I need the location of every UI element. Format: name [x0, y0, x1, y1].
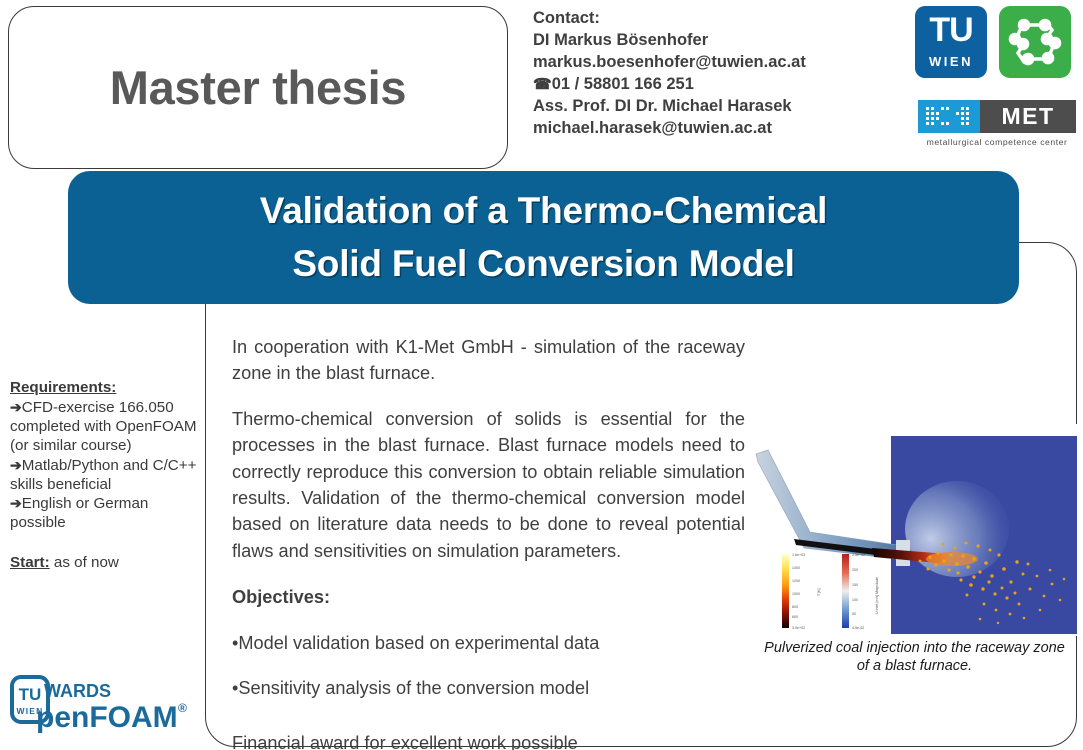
svg-text:U.Inlet [m/s] Magnitude: U.Inlet [m/s] Magnitude: [875, 577, 879, 614]
objectives-heading: Objectives:: [232, 584, 745, 610]
k1met-logo-met: MET: [980, 100, 1076, 133]
tu-wien-logo: TU WIEN: [915, 6, 987, 78]
banner-line-1: Validation of a Thermo-Chemical: [260, 185, 827, 238]
svg-text:50: 50: [852, 612, 856, 616]
k1met-logo-k1: [918, 100, 980, 133]
requirement-item: ➔English or German possible: [10, 494, 198, 532]
objective-item: •Sensitivity analysis of the conversion …: [232, 675, 745, 701]
requirement-item: ➔CFD-exercise 166.050 completed with Ope…: [10, 398, 198, 455]
requirement-text: CFD-exercise 166.050 completed with Open…: [10, 399, 197, 454]
banner-line-2: Solid Fuel Conversion Model: [292, 238, 794, 291]
requirement-text: English or German possible: [10, 495, 148, 531]
figure-caption-line-2: of a blast furnace.: [752, 658, 1077, 676]
contact-email[interactable]: markus.boesenhofer@tuwien.ac.at: [533, 52, 913, 74]
contact-supervisor-email[interactable]: michael.harasek@tuwien.ac.at: [533, 118, 913, 140]
tuwards-openfoam-logo: TU WIEN WARDS penFOAM ®: [8, 672, 198, 734]
green-molecule-logo: [999, 6, 1071, 78]
figure-caption-line-1: Pulverized coal injection into the racew…: [752, 640, 1077, 658]
requirements-heading: Requirements:: [10, 378, 198, 397]
requirement-item: ➔Matlab/Python and C/C++ skills benefici…: [10, 456, 198, 494]
intro-paragraph: In cooperation with K1-Met GmbH - simula…: [232, 334, 745, 387]
objective-item: •Model validation based on experimental …: [232, 630, 745, 656]
svg-text:1.6e+03: 1.6e+03: [792, 553, 805, 557]
svg-text:200: 200: [852, 568, 858, 572]
arrow-icon: ➔: [10, 399, 22, 415]
start-block: Start: as of now: [10, 553, 198, 572]
description-paragraph: Thermo-chemical conversion of solids is …: [232, 406, 745, 564]
requirements-sidebar: Requirements: ➔CFD-exercise 166.050 comp…: [10, 378, 198, 572]
contact-heading: Contact:: [533, 8, 913, 30]
requirement-text: Matlab/Python and C/C++ skills beneficia…: [10, 457, 197, 493]
svg-text:1400: 1400: [792, 566, 800, 570]
svg-text:100: 100: [852, 598, 858, 602]
main-body-text: In cooperation with K1-Met GmbH - simula…: [232, 334, 745, 750]
svg-text:T [K]: T [K]: [817, 588, 821, 596]
svg-text:4.5e-02: 4.5e-02: [852, 626, 864, 630]
contact-phone-line: ☎01 / 58801 166 251: [533, 74, 913, 96]
k1-pixel-icon: [925, 106, 973, 128]
raceway-simulation-figure: 1.6e+03 1400 1200 1000 800 600 3.0e+02 T…: [752, 424, 1077, 636]
figure-caption: Pulverized coal injection into the racew…: [752, 640, 1077, 675]
poster-root: Master thesis Contact: DI Markus Bösenho…: [0, 0, 1083, 750]
svg-text:2.5e+02: 2.5e+02: [852, 553, 865, 557]
svg-text:penFOAM: penFOAM: [36, 701, 178, 734]
svg-text:150: 150: [852, 583, 858, 587]
start-label: Start:: [10, 554, 50, 571]
logo-row: TU WIEN: [915, 6, 1071, 78]
svg-text:800: 800: [792, 605, 798, 609]
k1met-logo-subtitle: metallurgical competence center: [918, 137, 1076, 147]
svg-text:3.0e+02: 3.0e+02: [792, 626, 805, 630]
contact-name: DI Markus Bösenhofer: [533, 30, 913, 52]
contact-supervisor: Ass. Prof. DI Dr. Michael Harasek: [533, 96, 913, 118]
arrow-icon: ➔: [10, 495, 22, 511]
svg-text:1000: 1000: [792, 592, 800, 596]
contact-phone: 01 / 58801 166 251: [552, 75, 694, 93]
figure-wrap: 1.6e+03 1400 1200 1000 800 600 3.0e+02 T…: [752, 424, 1077, 675]
contact-block: Contact: DI Markus Bösenhofer markus.boe…: [533, 8, 913, 140]
phone-icon: ☎: [533, 76, 551, 93]
arrow-icon: ➔: [10, 457, 22, 473]
raceway-simulation-image: 1.6e+03 1400 1200 1000 800 600 3.0e+02 T…: [752, 424, 1077, 636]
k1met-logo: MET metallurgical competence center: [918, 100, 1078, 147]
thesis-title-banner: Validation of a Thermo-Chemical Solid Fu…: [68, 171, 1019, 304]
svg-text:WARDS: WARDS: [44, 681, 111, 701]
openfoam-logo-icon: TU WIEN WARDS penFOAM ®: [8, 672, 198, 734]
svg-text:600: 600: [792, 615, 798, 619]
tu-wien-logo-top: TU: [915, 13, 987, 47]
svg-text:®: ®: [178, 701, 187, 715]
svg-text:1200: 1200: [792, 579, 800, 583]
molecule-network-icon: [999, 6, 1071, 78]
closing-block: Financial award for excellent work possi…: [232, 730, 745, 750]
start-value: as of now: [50, 554, 119, 571]
page-title: Master thesis: [8, 6, 508, 169]
k1met-logo-bar: MET: [918, 100, 1076, 133]
tu-wien-logo-bottom: WIEN: [915, 54, 987, 69]
award-line: Financial award for excellent work possi…: [232, 730, 745, 750]
